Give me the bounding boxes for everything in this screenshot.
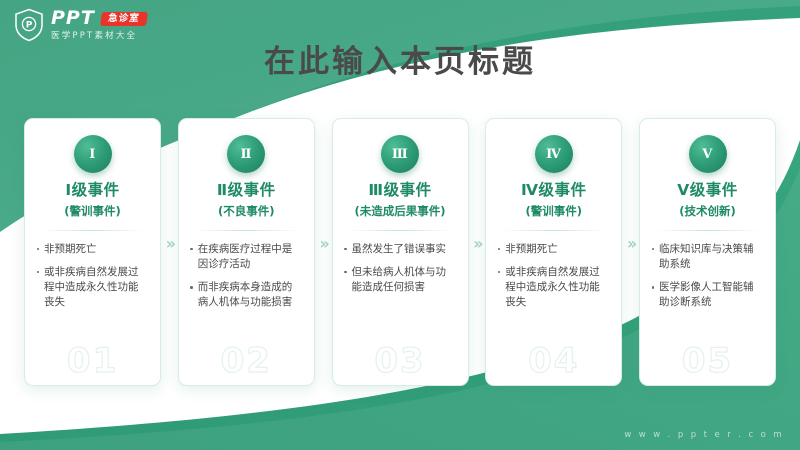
- card-divider-5: [656, 230, 760, 231]
- card-title-1: Ⅰ级事件: [65, 182, 119, 200]
- bullet-dot-icon: [344, 271, 347, 274]
- bullet-dot-icon: [190, 286, 193, 289]
- card-numeral-badge-5: Ⅴ: [689, 135, 727, 173]
- event-card-5[interactable]: Ⅴ Ⅴ级事件 (技术创新) 临床知识库与决策辅助系统 医学影像人工智能辅助诊断系…: [639, 118, 776, 386]
- brand-badge: 急诊室: [100, 12, 147, 26]
- bullet-text: 但未给病人机体与功能造成任何损害: [352, 265, 457, 295]
- card-numeral-badge-1: Ⅰ: [74, 135, 112, 173]
- list-item: 而非疾病本身造成的病人机体与功能损害: [190, 280, 302, 310]
- brand-logo[interactable]: P PPT 急诊室 医学PPT素材大全: [14, 8, 146, 42]
- list-item: 非预期死亡: [37, 242, 149, 257]
- card-divider-4: [502, 230, 606, 231]
- list-item: 但未给病人机体与功能造成任何损害: [344, 265, 456, 295]
- slide-canvas: P PPT 急诊室 医学PPT素材大全 在此输入本页标题 Ⅰ Ⅰ级事件 (警训事…: [0, 0, 800, 450]
- card-numeral-badge-3: Ⅲ: [381, 135, 419, 173]
- cards-row: Ⅰ Ⅰ级事件 (警训事件) 非预期死亡 或非疾病自然发展过程中造成永久性功能丧失…: [24, 118, 776, 388]
- card-title-5: Ⅴ级事件: [677, 182, 738, 200]
- card-bullets-2: 在疾病医疗过程中是因诊疗活动 而非疾病本身造成的病人机体与功能损害: [190, 242, 302, 311]
- chevron-right-icon-1: ››: [161, 118, 178, 388]
- footer-watermark: w w w . p p t e r . c o m: [624, 430, 784, 440]
- card-divider-2: [194, 230, 298, 231]
- list-item: 临床知识库与决策辅助系统: [652, 242, 764, 272]
- card-title-3: Ⅲ级事件: [368, 182, 431, 200]
- card-bullets-4: 非预期死亡 或非疾病自然发展过程中造成永久性功能丧失: [498, 242, 610, 311]
- bullet-dot-icon: [498, 271, 501, 274]
- card-title-2: Ⅱ级事件: [217, 182, 276, 200]
- bullet-dot-icon: [652, 286, 655, 289]
- bullet-dot-icon: [344, 248, 347, 251]
- card-divider-3: [348, 230, 452, 231]
- card-subtitle-1: (警训事件): [64, 205, 121, 219]
- list-item: 虽然发生了错误事实: [344, 242, 456, 257]
- card-watermark-number-2: 02: [179, 341, 314, 381]
- bullet-text: 非预期死亡: [505, 242, 610, 257]
- chevron-right-icon-2: ››: [315, 118, 332, 388]
- page-title: 在此输入本页标题: [0, 36, 800, 81]
- event-card-3[interactable]: Ⅲ Ⅲ级事件 (未造成后果事件) 虽然发生了错误事实 但未给病人机体与功能造成任…: [332, 118, 469, 386]
- card-title-4: Ⅳ级事件: [521, 182, 587, 200]
- card-subtitle-5: (技术创新): [679, 205, 736, 219]
- bullet-text: 或非疾病自然发展过程中造成永久性功能丧失: [505, 265, 610, 311]
- card-watermark-number-5: 05: [640, 341, 775, 381]
- bullet-dot-icon: [652, 248, 655, 251]
- card-subtitle-3: (未造成后果事件): [354, 205, 445, 219]
- card-bullets-5: 临床知识库与决策辅助系统 医学影像人工智能辅助诊断系统: [652, 242, 764, 311]
- bullet-text: 虽然发生了错误事实: [352, 242, 457, 257]
- list-item: 或非疾病自然发展过程中造成永久性功能丧失: [498, 265, 610, 311]
- event-card-2[interactable]: Ⅱ Ⅱ级事件 (不良事件) 在疾病医疗过程中是因诊疗活动 而非疾病本身造成的病人…: [178, 118, 315, 386]
- bullet-text: 临床知识库与决策辅助系统: [659, 242, 764, 272]
- event-card-1[interactable]: Ⅰ Ⅰ级事件 (警训事件) 非预期死亡 或非疾病自然发展过程中造成永久性功能丧失…: [24, 118, 161, 386]
- bullet-text: 或非疾病自然发展过程中造成永久性功能丧失: [44, 265, 149, 311]
- brand-tagline: 医学PPT素材大全: [51, 32, 146, 41]
- brand-primary-row: PPT 急诊室: [51, 9, 146, 28]
- card-watermark-number-1: 01: [25, 341, 160, 381]
- list-item: 非预期死亡: [498, 242, 610, 257]
- card-numeral-badge-4: Ⅳ: [535, 135, 573, 173]
- svg-text:P: P: [26, 21, 33, 31]
- bullet-dot-icon: [498, 248, 501, 251]
- card-watermark-number-4: 04: [486, 341, 621, 381]
- bullet-text: 非预期死亡: [44, 242, 149, 257]
- brand-text-block: PPT 急诊室 医学PPT素材大全: [51, 9, 146, 41]
- card-subtitle-2: (不良事件): [218, 205, 275, 219]
- card-watermark-number-3: 03: [333, 341, 468, 381]
- shield-icon: P: [14, 8, 44, 42]
- chevron-right-icon-4: ››: [622, 118, 639, 388]
- list-item: 医学影像人工智能辅助诊断系统: [652, 280, 764, 310]
- bullet-dot-icon: [37, 271, 40, 274]
- card-bullets-1: 非预期死亡 或非疾病自然发展过程中造成永久性功能丧失: [37, 242, 149, 311]
- card-numeral-badge-2: Ⅱ: [227, 135, 265, 173]
- list-item: 或非疾病自然发展过程中造成永久性功能丧失: [37, 265, 149, 311]
- chevron-right-icon-3: ››: [469, 118, 486, 388]
- bullet-dot-icon: [37, 248, 40, 251]
- bullet-text: 而非疾病本身造成的病人机体与功能损害: [198, 280, 303, 310]
- bullet-dot-icon: [190, 248, 193, 251]
- card-subtitle-4: (警训事件): [525, 205, 582, 219]
- card-bullets-3: 虽然发生了错误事实 但未给病人机体与功能造成任何损害: [344, 242, 456, 296]
- brand-name: PPT: [51, 9, 95, 28]
- event-card-4[interactable]: Ⅳ Ⅳ级事件 (警训事件) 非预期死亡 或非疾病自然发展过程中造成永久性功能丧失…: [485, 118, 622, 386]
- bullet-text: 医学影像人工智能辅助诊断系统: [659, 280, 764, 310]
- bullet-text: 在疾病医疗过程中是因诊疗活动: [198, 242, 303, 272]
- list-item: 在疾病医疗过程中是因诊疗活动: [190, 242, 302, 272]
- card-divider-1: [41, 230, 145, 231]
